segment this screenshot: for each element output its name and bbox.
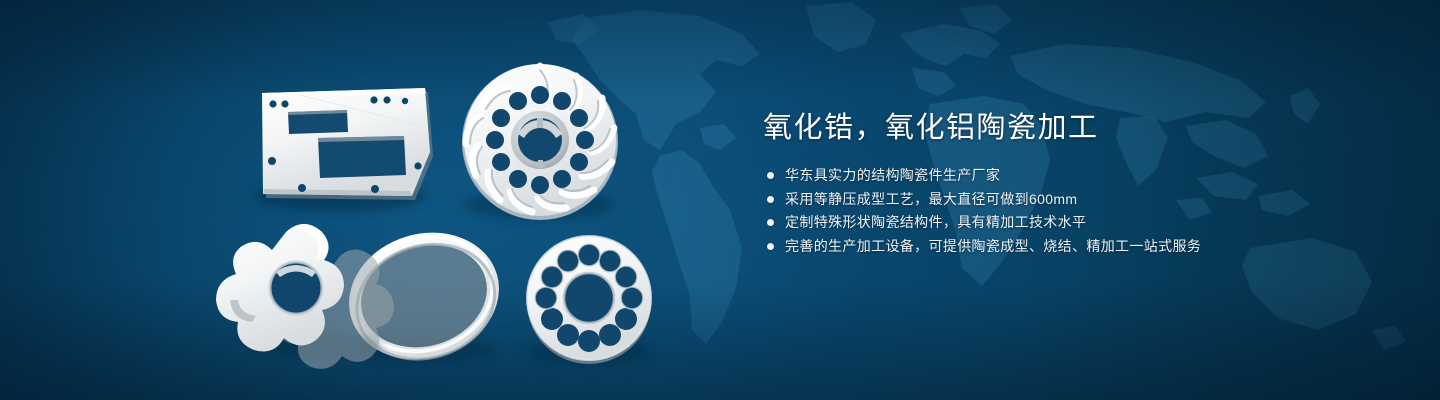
feature-list: 华东具实力的结构陶瓷件生产厂家 采用等静压成型工艺，最大直径可做到600mm 定… xyxy=(763,164,1383,258)
feature-text: 定制特殊形状陶瓷结构件，具有精加工技术水平 xyxy=(785,211,1086,234)
bullet-dot-icon xyxy=(767,219,774,226)
feature-list-item: 华东具实力的结构陶瓷件生产厂家 xyxy=(763,164,1383,187)
feature-text: 采用等静压成型工艺，最大直径可做到600mm xyxy=(785,188,1077,211)
banner-copy: 氧化锆，氧化铝陶瓷加工 华东具实力的结构陶瓷件生产厂家 采用等静压成型工艺，最大… xyxy=(763,108,1383,258)
product-ceramic-perforated-disc xyxy=(527,236,652,364)
feature-list-item: 定制特殊形状陶瓷结构件，具有精加工技术水平 xyxy=(763,211,1383,234)
bullet-dot-icon xyxy=(767,196,774,203)
feature-text: 华东具实力的结构陶瓷件生产厂家 xyxy=(785,164,1000,187)
product-ceramic-cross-part xyxy=(216,224,394,369)
hero-banner: 氧化锆，氧化铝陶瓷加工 华东具实力的结构陶瓷件生产厂家 采用等静压成型工艺，最大… xyxy=(0,0,1440,400)
feature-list-item: 完善的生产加工设备，可提供陶瓷成型、烧结、精加工一站式服务 xyxy=(763,235,1383,258)
bullet-dot-icon xyxy=(767,243,774,250)
feature-list-item: 采用等静压成型工艺，最大直径可做到600mm xyxy=(763,188,1383,211)
feature-text: 完善的生产加工设备，可提供陶瓷成型、烧结、精加工一站式服务 xyxy=(785,235,1201,258)
product-showcase-image xyxy=(0,0,700,400)
product-ceramic-impeller xyxy=(462,64,618,220)
banner-headline: 氧化锆，氧化铝陶瓷加工 xyxy=(763,108,1383,148)
product-ceramic-plate xyxy=(254,88,433,211)
bullet-dot-icon xyxy=(767,172,774,179)
